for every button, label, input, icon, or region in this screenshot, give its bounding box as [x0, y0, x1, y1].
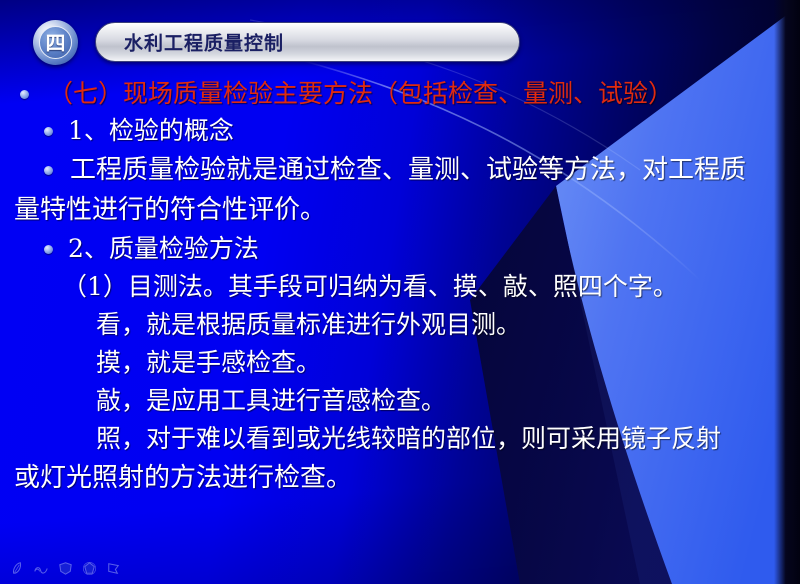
- content-line-sub-1: 1、检验的概念: [0, 112, 800, 150]
- bullet-icon: [20, 90, 29, 99]
- slide-content: （七）现场质量检验主要方法（包括检查、量测、试验） 1、检验的概念 工程质量检验…: [0, 76, 800, 498]
- content-heading: （七）现场质量检验主要方法（包括检查、量测、试验）: [0, 76, 800, 112]
- bullet-icon: [44, 245, 53, 254]
- section-number-badge-inner: 四: [39, 26, 72, 59]
- content-line-item-4: 敲，是应用工具进行音感检查。: [0, 382, 800, 420]
- title-pill: 水利工程质量控制: [95, 22, 520, 62]
- content-line-item-1: （1）目测法。其手段可归纳为看、摸、敲、照四个字。: [0, 268, 800, 306]
- content-line-text: 看，就是根据质量标准进行外观目测。: [96, 310, 521, 339]
- bullet-icon: [44, 127, 53, 136]
- slide-title-bar: 水利工程质量控制 四: [33, 22, 520, 62]
- content-line-text: 敲，是应用工具进行音感检查。: [96, 386, 446, 415]
- content-line-text: （1）目测法。其手段可归纳为看、摸、敲、照四个字。: [62, 272, 678, 301]
- presentation-slide: 水利工程质量控制 四 （七）现场质量检验主要方法（包括检查、量测、试验） 1、检…: [0, 0, 800, 584]
- leaf-icon: [8, 559, 27, 578]
- content-heading-text: （七）现场质量检验主要方法（包括检查、量测、试验）: [48, 79, 673, 108]
- wave-icon: [32, 559, 51, 578]
- footer-icon-row: [8, 559, 123, 578]
- section-number-label: 四: [46, 33, 66, 53]
- page-title: 水利工程质量控制: [124, 29, 284, 56]
- content-line-text: 1、检验的概念: [68, 116, 234, 145]
- content-line-sub-2: 2、质量检验方法: [0, 230, 800, 268]
- content-line-text: 2、质量检验方法: [68, 234, 259, 263]
- shield-icon: [56, 559, 75, 578]
- content-line-item-3: 摸，就是手感检查。: [0, 344, 800, 382]
- content-line-text: 摸，就是手感检查。: [96, 348, 321, 377]
- content-line-cont-1: 量特性进行的符合性评价。: [0, 190, 800, 230]
- content-line-cont-2: 或灯光照射的方法进行检查。: [0, 458, 800, 498]
- gem-icon: [80, 559, 99, 578]
- content-line-item-2: 看，就是根据质量标准进行外观目测。: [0, 306, 800, 344]
- content-line-item-5: 照，对于难以看到或光线较暗的部位，则可采用镜子反射: [0, 420, 800, 458]
- content-line-text: 照，对于难以看到或光线较暗的部位，则可采用镜子反射: [96, 424, 721, 453]
- content-line-text: 量特性进行的符合性评价。: [14, 195, 326, 225]
- content-line-body-1: 工程质量检验就是通过检查、量测、试验等方法，对工程质: [0, 150, 800, 190]
- content-line-text: 或灯光照射的方法进行检查。: [14, 463, 352, 493]
- flag-icon: [104, 559, 123, 578]
- section-number-badge: 四: [33, 20, 78, 65]
- content-line-text: 工程质量检验就是通过检查、量测、试验等方法，对工程质: [70, 155, 746, 185]
- bullet-icon: [44, 166, 53, 175]
